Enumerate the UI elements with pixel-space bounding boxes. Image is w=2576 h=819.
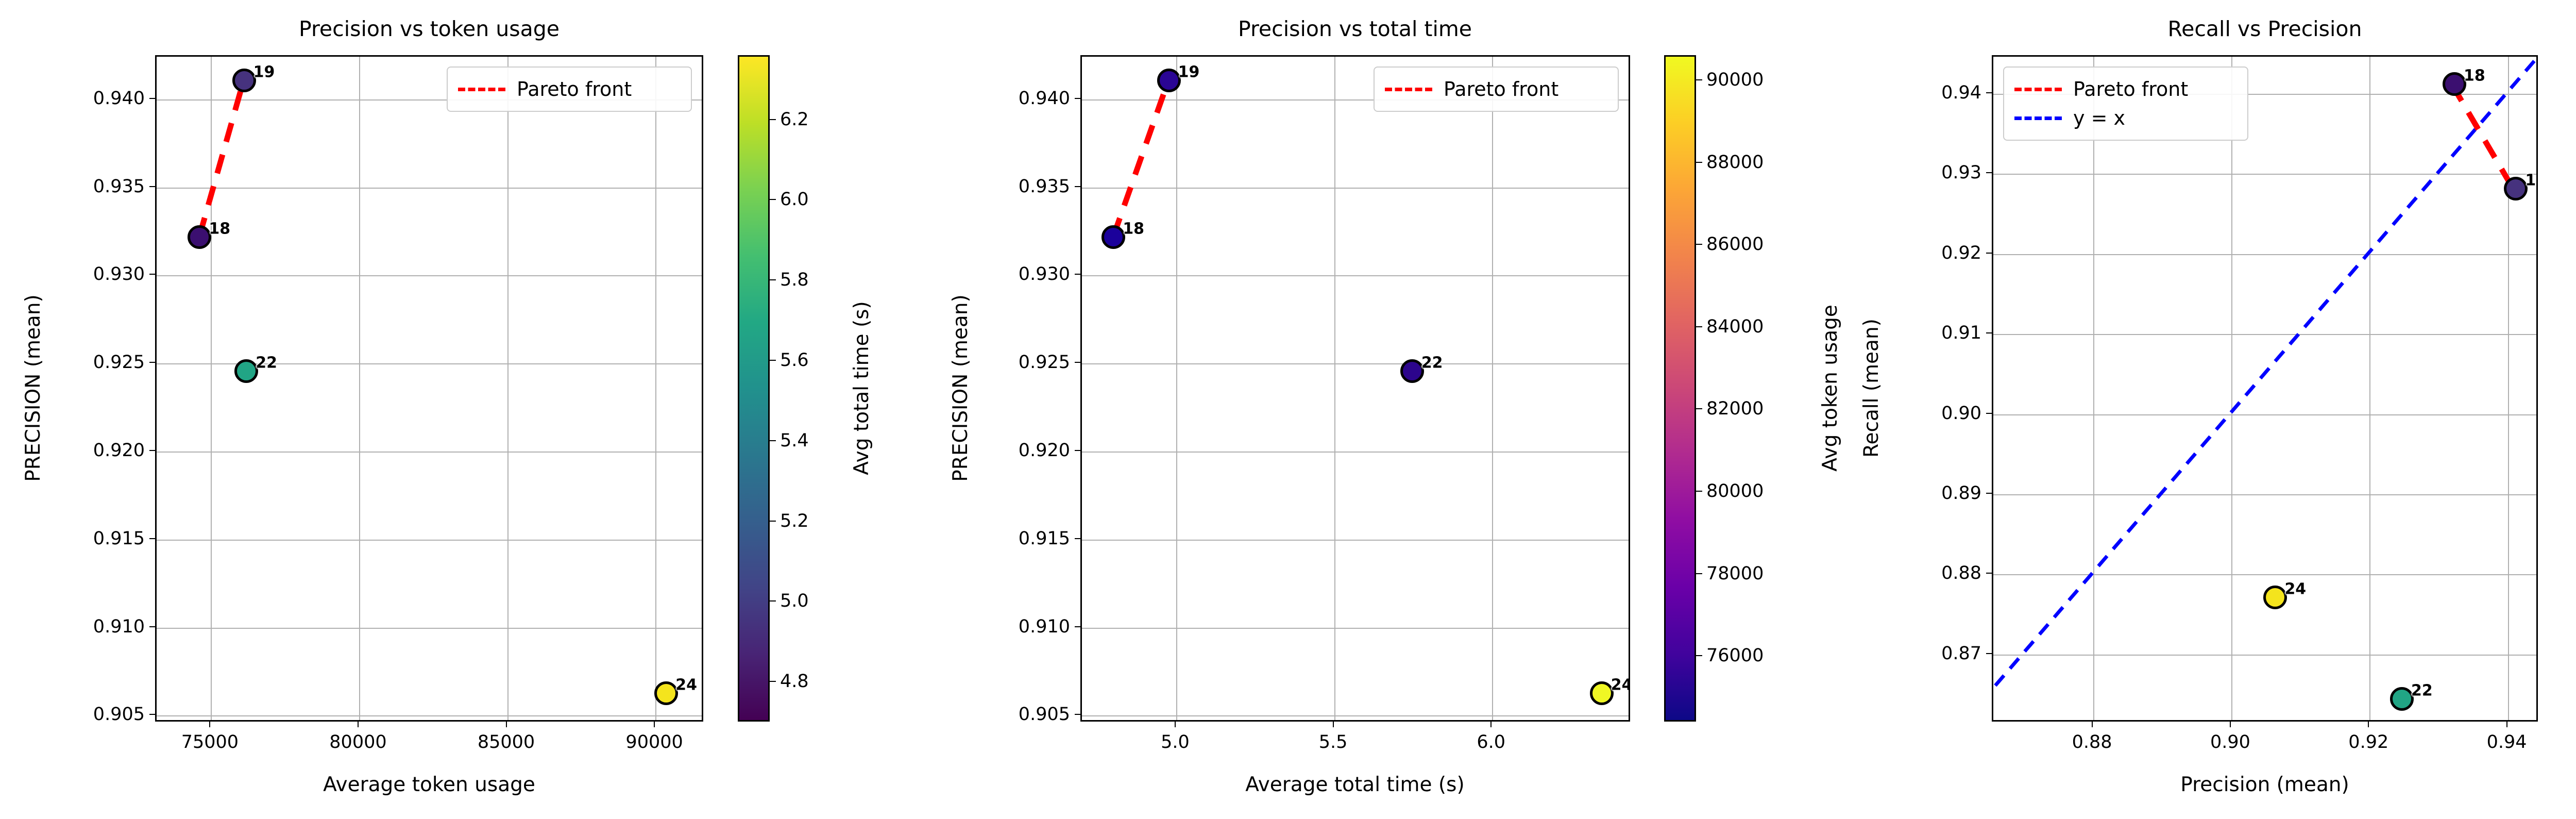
y-tick-label: 0.925 [49,352,145,373]
y-tick-label: 0.915 [49,528,145,549]
y-tick-mark [1986,332,1992,333]
y-axis-label: PRECISION (mean) [22,294,45,482]
y-tick-label: 0.920 [49,440,145,461]
y-tick-mark [1986,172,1992,173]
y-tick-mark [1986,573,1992,574]
y-tick-mark [149,450,155,451]
data-point-label-22: 22 [256,354,277,372]
panel-title: Precision vs token usage [120,16,738,41]
x-axis-label: Average token usage [323,773,535,796]
y-tick-label: 0.920 [975,440,1070,461]
y-tick-mark [1075,626,1080,627]
x-tick-label: 90000 [625,732,683,753]
gridline-horizontal [1993,574,2536,575]
gridline-vertical [2231,57,2232,720]
gridline-horizontal [1993,494,2536,495]
legend-entry[interactable]: Pareto front [458,75,681,104]
identity-line [1993,57,2536,720]
colorbar-tick-label: 78000 [1706,563,1764,584]
colorbar [738,55,770,722]
gridline-horizontal [1993,414,2536,415]
line-overlay [157,57,702,720]
legend-line-swatch [458,88,505,91]
x-tick-mark [2506,722,2507,727]
y-tick-mark [149,626,155,627]
gridline-horizontal [157,628,702,629]
pareto-front-line [1113,80,1168,236]
plot-area: 19182224 [1080,55,1630,722]
gridline-vertical [655,57,656,720]
data-point-19[interactable] [1157,69,1181,92]
legend: Pareto fronty = x [2003,66,2248,141]
colorbar-tick-mark [770,440,776,441]
data-point-18[interactable] [2443,72,2466,96]
gridline-horizontal [1993,334,2536,335]
y-tick-mark [1986,92,1992,93]
y-tick-mark [149,362,155,363]
x-tick-mark [2230,722,2231,727]
y-tick-mark [149,186,155,187]
gridline-vertical [1176,57,1177,720]
legend: Pareto front [1374,66,1619,112]
x-tick-label: 0.92 [2348,732,2388,753]
colorbar [1664,55,1696,722]
y-tick-label: 0.910 [49,616,145,637]
data-point-label-18: 18 [209,220,230,238]
y-tick-mark [1075,98,1080,99]
panel-title: Recall vs Precision [1956,16,2574,41]
colorbar-tick-label: 80000 [1706,481,1764,502]
colorbar-tick-label: 6.0 [780,189,809,210]
gridline-vertical [2093,57,2094,720]
legend-entry[interactable]: Pareto front [1385,75,1607,104]
colorbar-tick-mark [770,521,776,522]
y-tick-mark [149,714,155,715]
colorbar-tick-label: 82000 [1706,398,1764,419]
colorbar-tick-label: 4.8 [780,671,809,692]
colorbar-tick-mark [1696,408,1702,409]
gridline-horizontal [1082,188,1629,189]
x-tick-mark [506,722,507,727]
data-point-19[interactable] [232,69,256,92]
colorbar-tick-label: 5.6 [780,350,809,371]
data-point-24[interactable] [2263,586,2287,609]
y-tick-label: 0.94 [1886,82,1981,103]
legend-entry-label: y = x [2073,107,2125,129]
y-tick-label: 0.940 [975,88,1070,109]
legend-line-swatch [2014,88,2062,91]
x-tick-label: 85000 [478,732,535,753]
y-tick-label: 0.93 [1886,162,1981,183]
y-tick-mark [1075,450,1080,451]
y-tick-mark [1986,413,1992,414]
y-tick-label: 0.88 [1886,563,1981,583]
colorbar-tick-mark [770,600,776,601]
y-tick-label: 0.915 [975,528,1070,549]
y-tick-mark [149,538,155,539]
gridline-horizontal [1082,363,1629,364]
figure-canvas: Precision vs token usage1918222475000800… [0,0,2576,819]
y-tick-mark [1075,714,1080,715]
x-tick-mark [2092,722,2093,727]
colorbar-tick-label: 5.0 [780,591,809,611]
gridline-horizontal [1082,540,1629,541]
colorbar-tick-label: 6.2 [780,109,809,130]
y-tick-mark [1075,186,1080,187]
colorbar-tick-mark [1696,244,1702,245]
colorbar-tick-label: 90000 [1706,70,1764,90]
data-point-label-19: 19 [1178,63,1200,81]
data-point-label-19: 19 [2525,172,2536,190]
colorbar-tick-label: 76000 [1706,645,1764,666]
gridline-vertical [211,57,212,720]
gridline-horizontal [157,715,702,716]
data-point-label-22: 22 [1421,354,1443,372]
y-tick-label: 0.925 [975,352,1070,373]
gridline-vertical [2508,57,2509,720]
y-tick-mark [149,274,155,275]
colorbar-tick-mark [1696,655,1702,656]
x-tick-label: 5.5 [1319,732,1348,753]
plot-area: 19182224 [155,55,703,722]
colorbar-tick-mark [770,199,776,200]
y-tick-label: 0.930 [49,264,145,285]
gridline-vertical [359,57,360,720]
colorbar-tick-mark [1696,162,1702,163]
data-point-label-22: 22 [2411,682,2433,700]
gridline-horizontal [157,188,702,189]
x-tick-mark [2368,722,2369,727]
y-axis-label: PRECISION (mean) [949,294,972,482]
y-tick-mark [1986,253,1992,254]
x-axis-label: Precision (mean) [2180,773,2349,796]
x-tick-mark [654,722,655,727]
y-tick-mark [149,98,155,99]
panel-title: Precision vs total time [1046,16,1664,41]
legend-entry[interactable]: Pareto front [2014,75,2237,104]
data-point-label-18: 18 [2464,66,2485,85]
data-point-24[interactable] [654,681,678,705]
gridline-vertical [507,57,509,720]
colorbar-tick-mark [770,119,776,120]
y-axis-label: Recall (mean) [1860,319,1883,458]
x-tick-mark [1175,722,1176,727]
legend-entry-label: Pareto front [1444,78,1558,101]
x-tick-label: 75000 [181,732,239,753]
data-point-22[interactable] [234,359,258,383]
y-tick-mark [1986,653,1992,654]
gridline-horizontal [157,540,702,541]
colorbar-tick-label: 88000 [1706,152,1764,173]
colorbar-tick-label: 5.8 [780,270,809,290]
legend-entry-label: Pareto front [517,78,632,101]
colorbar-tick-mark [770,279,776,280]
y-tick-mark [1075,274,1080,275]
data-point-label-24: 24 [2284,580,2306,598]
colorbar-tick-mark [770,360,776,361]
x-tick-label: 0.94 [2487,732,2527,753]
plot-area: 18192422 [1992,55,2538,722]
colorbar-tick-label: 5.2 [780,511,809,531]
y-tick-label: 0.87 [1886,643,1981,664]
x-axis-label: Average total time (s) [1245,773,1464,796]
y-tick-label: 0.905 [49,704,145,725]
data-point-22[interactable] [1400,359,1424,383]
y-tick-mark [1075,362,1080,363]
gridline-horizontal [1993,174,2536,175]
x-tick-label: 6.0 [1477,732,1505,753]
x-tick-mark [209,722,210,727]
gridline-horizontal [1082,628,1629,629]
line-overlay [1082,57,1629,720]
plot-clip: 19182224 [1082,57,1629,720]
data-point-24[interactable] [1590,681,1614,705]
pareto-front-line [199,81,244,237]
y-tick-mark [1075,538,1080,539]
x-tick-mark [358,722,359,727]
colorbar-label: Avg token usage [1819,305,1842,472]
data-point-18[interactable] [1101,225,1125,249]
y-tick-label: 0.89 [1886,483,1981,504]
y-tick-label: 0.930 [975,264,1070,285]
gridline-horizontal [157,275,702,276]
y-tick-label: 0.935 [975,176,1070,197]
y-tick-label: 0.935 [49,176,145,197]
colorbar-tick-mark [1696,573,1702,574]
x-tick-label: 0.90 [2210,732,2250,753]
gridline-vertical [1334,57,1335,720]
data-point-label-24: 24 [675,676,697,694]
data-point-label-18: 18 [1123,220,1144,238]
colorbar-tick-mark [1696,326,1702,327]
gridline-horizontal [1993,655,2536,656]
colorbar-tick-mark [1696,79,1702,80]
y-tick-label: 0.92 [1886,243,1981,263]
gridline-horizontal [1082,275,1629,276]
data-point-label-24: 24 [1611,676,1629,694]
data-point-22[interactable] [2390,687,2414,711]
plot-clip: 19182224 [157,57,702,720]
colorbar-tick-mark [1696,491,1702,492]
colorbar-tick-mark [770,681,776,682]
x-tick-label: 5.0 [1161,732,1190,753]
gridline-horizontal [1082,452,1629,453]
pareto-front-line [2452,84,2513,188]
y-tick-label: 0.910 [975,616,1070,637]
data-point-19[interactable] [2504,177,2528,200]
colorbar-tick-label: 86000 [1706,234,1764,255]
colorbar-label: Avg total time (s) [850,301,873,475]
y-tick-label: 0.91 [1886,323,1981,343]
gridline-horizontal [1082,715,1629,716]
x-tick-label: 0.88 [2072,732,2112,753]
x-tick-label: 80000 [329,732,386,753]
colorbar-tick-label: 5.4 [780,430,809,451]
y-tick-label: 0.90 [1886,403,1981,424]
data-point-label-19: 19 [253,63,275,81]
gridline-horizontal [157,452,702,453]
y-tick-label: 0.940 [49,88,145,109]
x-tick-mark [1333,722,1334,727]
gridline-vertical [1492,57,1493,720]
gridline-horizontal [1993,254,2536,255]
legend: Pareto front [447,66,692,112]
colorbar-tick-label: 84000 [1706,316,1764,337]
gridline-vertical [2369,57,2370,720]
legend-line-swatch [2014,116,2062,120]
plot-clip: 18192422 [1993,57,2536,720]
line-overlay [1993,57,2536,720]
y-tick-label: 0.905 [975,704,1070,725]
legend-entry[interactable]: y = x [2014,104,2237,132]
legend-entry-label: Pareto front [2073,78,2188,101]
data-point-18[interactable] [188,225,211,249]
x-tick-mark [1490,722,1492,727]
y-tick-mark [1986,493,1992,494]
legend-line-swatch [1385,88,1432,91]
